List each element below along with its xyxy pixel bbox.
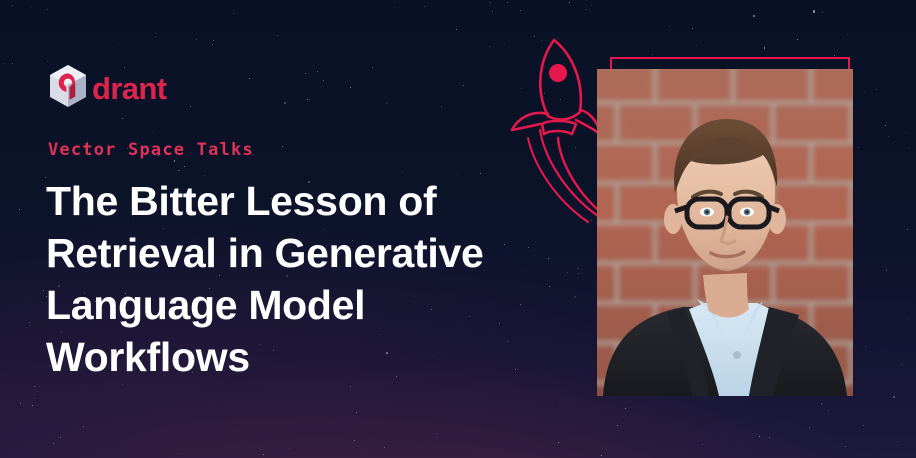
qdrant-hexagon-logo-icon bbox=[48, 64, 88, 108]
title-line: Workflows bbox=[46, 332, 546, 384]
qdrant-wordmark: drant bbox=[92, 73, 167, 104]
speaker-photo bbox=[597, 69, 853, 396]
title-line: Language Model bbox=[46, 280, 546, 332]
title-line: The Bitter Lesson of bbox=[46, 176, 546, 228]
qdrant-logo[interactable]: drant bbox=[48, 64, 169, 108]
title-line: Retrieval in Generative bbox=[46, 228, 546, 280]
series-kicker: Vector Space Talks bbox=[48, 140, 254, 160]
page-title: The Bitter Lesson of Retrieval in Genera… bbox=[46, 176, 546, 383]
vector-space-talks-banner: drant Vector Space Talks The Bitter Less… bbox=[0, 0, 916, 458]
